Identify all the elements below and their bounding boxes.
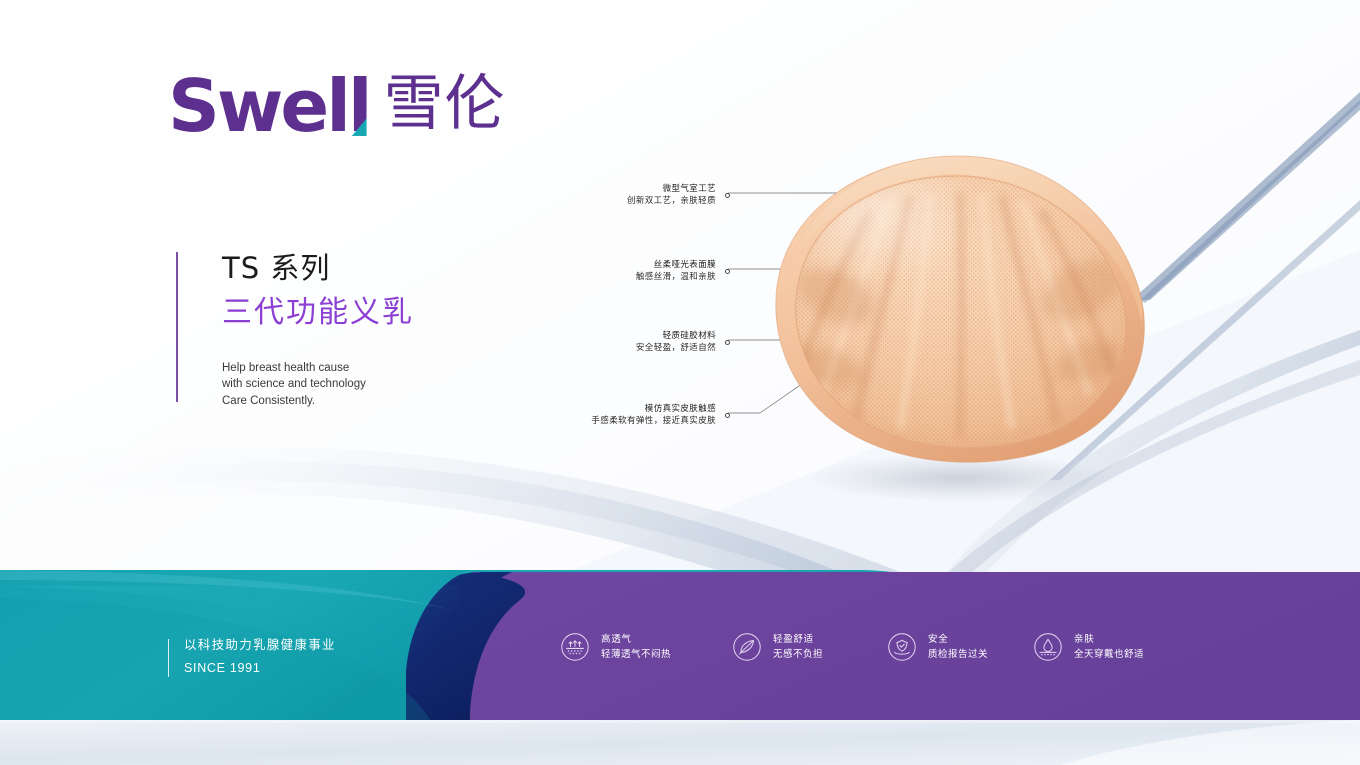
feature-breathable-title: 高透气 [601, 632, 671, 647]
logo-wordmark: Swell [168, 72, 370, 140]
callout-2-dot [725, 269, 730, 274]
feature-skin-friendly-desc: 全天穿戴也舒适 [1074, 647, 1144, 662]
feature-skin-friendly-text: 亲肤 全天穿戴也舒适 [1074, 632, 1144, 662]
shield-hand-icon [887, 632, 917, 662]
feature-item-safety: 安全 质检报告过关 [887, 632, 1033, 662]
product-series-title: TS 系列 [222, 250, 414, 286]
feature-item-skin-friendly: 亲肤 全天穿戴也舒适 [1033, 632, 1183, 662]
product-image-silicone-breast-form [752, 140, 1164, 470]
callout-3-text: 轻质硅胶材料 安全轻盈，舒适自然 [636, 330, 716, 355]
headline-english-tagline: Help breast health cause with science an… [222, 360, 414, 410]
logo-chinese-name: 雪伦 [384, 73, 506, 140]
feature-safety-title: 安全 [928, 632, 988, 647]
feature-item-breathable: 高透气 轻薄透气不闷热 [560, 632, 732, 662]
tagline-line-1: Help breast health cause [222, 360, 414, 377]
feature-safety-desc: 质检报告过关 [928, 647, 988, 662]
feature-item-lightweight: 轻盈舒适 无感不负担 [732, 632, 887, 662]
callout-3-dot [725, 340, 730, 345]
poster-canvas: Swell 雪伦 TS 系列 三代功能义乳 Help breast health… [0, 0, 1360, 765]
feature-safety-text: 安全 质检报告过关 [928, 632, 988, 662]
footer-slogan-rule [168, 639, 169, 677]
callout-2: 丝柔哑光表面膜 触感丝滑，温和亲肤 [530, 259, 730, 284]
skin-drop-icon [1033, 632, 1063, 662]
headline-block: TS 系列 三代功能义乳 Help breast health cause wi… [176, 250, 414, 410]
footer-brand-slogan: 以科技助力乳腺健康事业 SINCE 1991 [168, 636, 336, 678]
callout-4-dot [725, 413, 730, 418]
footer-slogan-since: SINCE 1991 [184, 659, 336, 678]
tagline-line-2: with science and technology [222, 376, 414, 393]
callout-1: 微型气室工艺 创新双工艺，亲肤轻质 [530, 183, 730, 208]
feature-breathable-text: 高透气 轻薄透气不闷热 [601, 632, 671, 662]
feather-icon [732, 632, 762, 662]
callout-3-title: 轻质硅胶材料 [636, 330, 716, 342]
callout-4-text: 模仿真实皮肤触感 手感柔软有弹性，接近真实皮肤 [591, 403, 716, 428]
callout-2-title: 丝柔哑光表面膜 [636, 259, 716, 271]
callout-4: 模仿真实皮肤触感 手感柔软有弹性，接近真实皮肤 [500, 403, 730, 428]
callout-1-title: 微型气室工艺 [627, 183, 716, 195]
product-subtitle: 三代功能义乳 [222, 294, 414, 332]
callout-4-title: 模仿真实皮肤触感 [591, 403, 716, 415]
callout-1-desc: 创新双工艺，亲肤轻质 [627, 195, 716, 207]
callout-4-desc: 手感柔软有弹性，接近真实皮肤 [591, 415, 716, 427]
callout-3-desc: 安全轻盈，舒适自然 [636, 342, 716, 354]
footer-feature-list: 高透气 轻薄透气不闷热 轻盈舒适 无感不负担 [560, 632, 1183, 662]
breathable-icon [560, 632, 590, 662]
callout-1-text: 微型气室工艺 创新双工艺，亲肤轻质 [627, 183, 716, 208]
feature-lightweight-desc: 无感不负担 [773, 647, 823, 662]
tagline-line-3: Care Consistently. [222, 393, 414, 410]
feature-skin-friendly-title: 亲肤 [1074, 632, 1144, 647]
footer-slogan-chinese: 以科技助力乳腺健康事业 [184, 636, 336, 655]
feature-breathable-desc: 轻薄透气不闷热 [601, 647, 671, 662]
feature-lightweight-title: 轻盈舒适 [773, 632, 823, 647]
headline-vertical-rule [176, 252, 178, 402]
feature-lightweight-text: 轻盈舒适 无感不负担 [773, 632, 823, 662]
logo-wordmark-text: Swell [168, 64, 370, 148]
brand-logo: Swell 雪伦 [168, 72, 506, 140]
callout-1-dot [725, 193, 730, 198]
callout-2-text: 丝柔哑光表面膜 触感丝滑，温和亲肤 [636, 259, 716, 284]
callout-3: 轻质硅胶材料 安全轻盈，舒适自然 [530, 330, 730, 355]
callout-2-desc: 触感丝滑，温和亲肤 [636, 271, 716, 283]
